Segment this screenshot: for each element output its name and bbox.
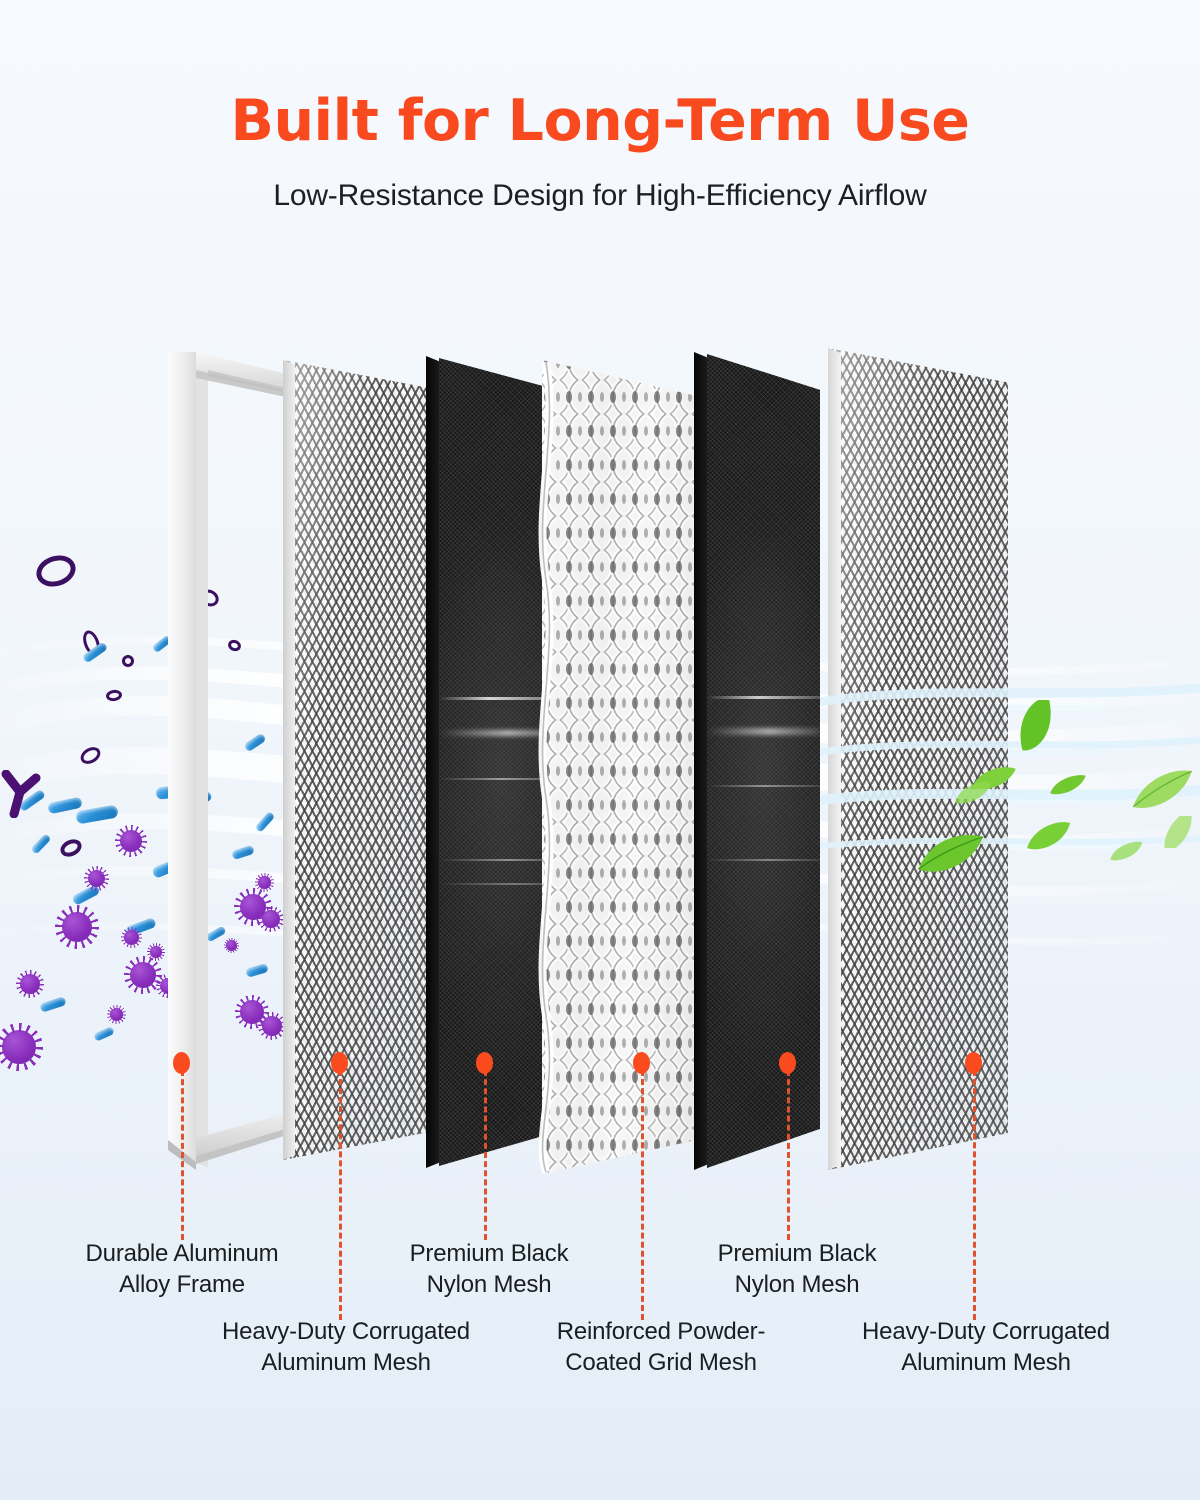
callout-label-1-line2: Alloy Frame [38, 1269, 326, 1300]
callout-label-5-line1: Premium Black [662, 1238, 932, 1269]
callout-line-1 [181, 1070, 184, 1240]
virus-icon [62, 912, 92, 942]
pathogen-ring-icon [122, 655, 134, 667]
callout-label-6: Heavy-Duty Corrugated Aluminum Mesh [818, 1316, 1154, 1378]
callout-dot-2[interactable] [331, 1052, 348, 1074]
callout-label-1: Durable Aluminum Alloy Frame [38, 1238, 326, 1300]
callout-line-6 [973, 1070, 976, 1320]
leaf-icon [1126, 770, 1200, 812]
page-header: Built for Long-Term Use Low-Resistance D… [0, 0, 1200, 213]
callout-label-5: Premium Black Nylon Mesh [662, 1238, 932, 1300]
virus-icon [120, 830, 142, 852]
callout-label-2-line2: Aluminum Mesh [178, 1347, 514, 1378]
virus-icon [110, 1008, 123, 1021]
virus-icon [2, 1030, 36, 1064]
callout-label-1-line1: Durable Aluminum [38, 1238, 326, 1269]
layer-corrugated-aluminum-mesh-1 [283, 360, 429, 1160]
virus-icon [88, 870, 105, 887]
page-subtitle: Low-Resistance Design for High-Efficienc… [0, 179, 1200, 213]
callout-label-3-line1: Premium Black [354, 1238, 624, 1269]
callout-line-4 [641, 1070, 644, 1320]
callout-line-5 [787, 1070, 790, 1240]
callout-label-3: Premium Black Nylon Mesh [354, 1238, 624, 1300]
virus-icon [20, 974, 40, 994]
leaf-icon [1046, 772, 1090, 798]
callout-dot-6[interactable] [965, 1052, 982, 1074]
leaf-icon [1152, 816, 1200, 848]
callout-label-5-line2: Nylon Mesh [662, 1269, 932, 1300]
callout-line-2 [339, 1070, 342, 1320]
nylon-1-side-edge [426, 356, 440, 1168]
layer-black-nylon-mesh-2 [707, 354, 820, 1168]
leaf-icon [950, 780, 996, 806]
leaf-icon [1106, 840, 1146, 864]
allergen-icon [0, 770, 42, 818]
callout-dot-1[interactable] [173, 1052, 190, 1074]
callout-label-6-line1: Heavy-Duty Corrugated [818, 1316, 1154, 1347]
page-title: Built for Long-Term Use [0, 92, 1200, 152]
callout-dot-3[interactable] [476, 1052, 493, 1074]
leaf-icon [1006, 700, 1066, 752]
virus-icon [124, 930, 139, 945]
callout-label-4-line2: Coated Grid Mesh [516, 1347, 806, 1378]
leaf-icon [1022, 820, 1076, 854]
callout-dot-5[interactable] [779, 1052, 796, 1074]
callout-label-6-line2: Aluminum Mesh [818, 1347, 1154, 1378]
diagram-scene: Durable Aluminum Alloy Frame Premium Bla… [0, 0, 1200, 1500]
callout-line-3 [484, 1070, 487, 1240]
nylon-2-side-edge [694, 352, 708, 1170]
leaf-icon [912, 832, 990, 876]
mesh-1-side-edge [283, 360, 295, 1160]
callout-label-2: Heavy-Duty Corrugated Aluminum Mesh [178, 1316, 514, 1378]
callout-label-4: Reinforced Powder- Coated Grid Mesh [516, 1316, 806, 1378]
callout-label-4-line1: Reinforced Powder- [516, 1316, 806, 1347]
callout-dot-4[interactable] [633, 1052, 650, 1074]
callout-label-3-line2: Nylon Mesh [354, 1269, 624, 1300]
callout-label-2-line1: Heavy-Duty Corrugated [178, 1316, 514, 1347]
